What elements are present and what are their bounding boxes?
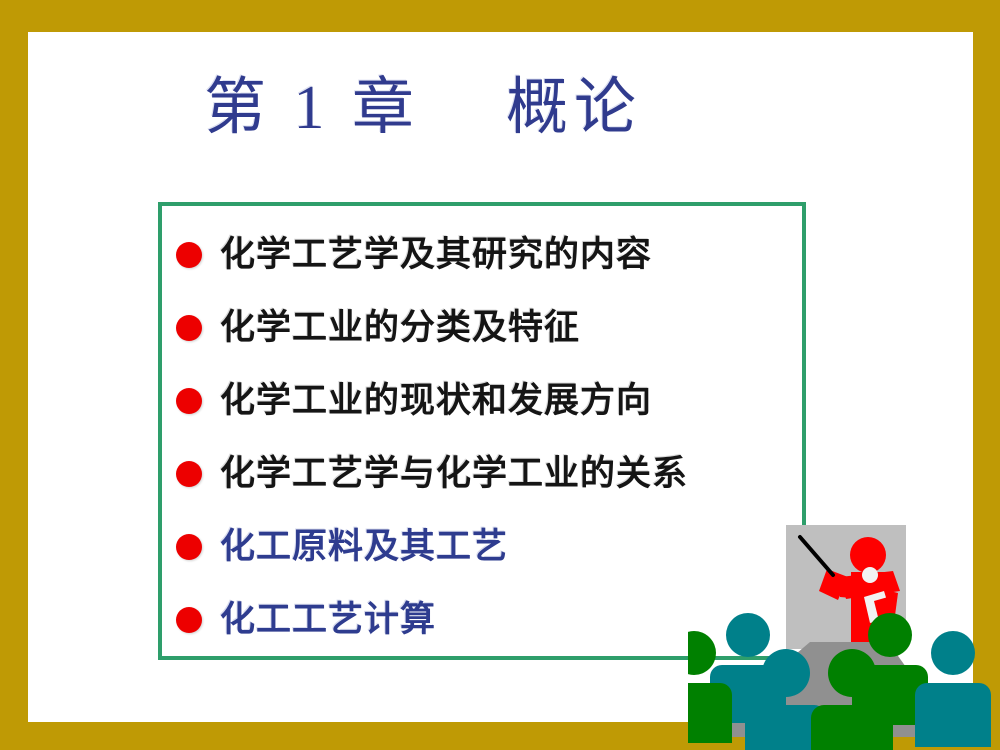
list-item-label: 化学工业的分类及特征 — [220, 310, 580, 345]
bullet-dot-icon — [176, 534, 202, 560]
bullet-dot-icon — [176, 242, 202, 268]
list-item[interactable]: 化学工艺学与化学工业的关系 — [176, 437, 876, 510]
list-item[interactable]: 化学工艺学及其研究的内容 — [176, 218, 876, 291]
lecture-classroom-icon — [688, 505, 1000, 750]
list-item[interactable]: 化学工业的分类及特征 — [176, 291, 876, 364]
list-item-label: 化学工艺学及其研究的内容 — [220, 237, 652, 272]
slide: 第 1 章 概论 化学工艺学及其研究的内容 化学工业的分类及特征 化学工业的现状… — [0, 0, 1000, 750]
list-item[interactable]: 化学工业的现状和发展方向 — [176, 364, 876, 437]
list-item-label: 化学工艺学与化学工业的关系 — [220, 456, 688, 491]
bullet-dot-icon — [176, 461, 202, 487]
list-item-label: 化学工业的现状和发展方向 — [220, 383, 652, 418]
bullet-dot-icon — [176, 388, 202, 414]
page-title: 第 1 章 概论 — [28, 77, 818, 139]
list-item-label: 化工原料及其工艺 — [220, 529, 508, 564]
bullet-dot-icon — [176, 315, 202, 341]
list-item-label: 化工工艺计算 — [220, 602, 436, 637]
bullet-dot-icon — [176, 607, 202, 633]
